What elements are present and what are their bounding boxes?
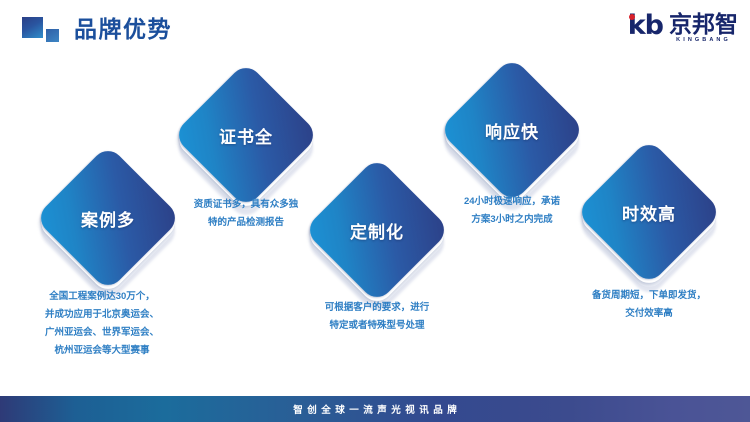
logo-red-dot-icon	[629, 14, 635, 20]
advantage-card-4[interactable]: 响应快	[460, 78, 564, 182]
diamond-face	[575, 138, 722, 285]
logo-english-name: KINGBANG	[669, 36, 738, 44]
page-title: 品牌优势	[74, 13, 172, 45]
card-description-1: 全国工程案例达30万个， 并成功应用于北京奥运会、 广州亚运会、世界军运会、 杭…	[0, 288, 207, 360]
card-description-5: 备货周期短，下单即发货， 交付效率高	[544, 287, 750, 323]
card-description-3: 可根据客户的要求，进行 特定或者特殊型号处理	[272, 299, 482, 335]
diamond-face	[303, 156, 450, 303]
logo-mark: kb	[628, 12, 663, 40]
logo-chinese-name: 京邦智	[669, 12, 738, 37]
advantage-card-5[interactable]: 时效高	[597, 160, 701, 264]
slide-root: 品牌优势 kb 京邦智 KINGBANG 案例多 全国工程案例达30万个， 并成…	[0, 0, 750, 422]
decorative-square-small-icon	[46, 29, 59, 42]
slide-header: 品牌优势 kb 京邦智 KINGBANG	[0, 0, 750, 58]
diamond-face	[438, 56, 585, 203]
diamond-face	[172, 61, 319, 208]
diamond-shape-2: 证书全	[194, 83, 298, 187]
advantage-card-2[interactable]: 证书全	[194, 83, 298, 187]
decorative-square-large-icon	[22, 17, 43, 38]
diamond-shape-5: 时效高	[597, 160, 701, 264]
logo-wordmark: 京邦智 KINGBANG	[669, 12, 738, 44]
diamond-shape-4: 响应快	[460, 78, 564, 182]
footer-slogan: 智创全球一流声光视讯品牌	[289, 402, 462, 416]
slide-footer: 智创全球一流声光视讯品牌	[0, 396, 750, 422]
brand-logo: kb 京邦智 KINGBANG	[628, 12, 738, 46]
